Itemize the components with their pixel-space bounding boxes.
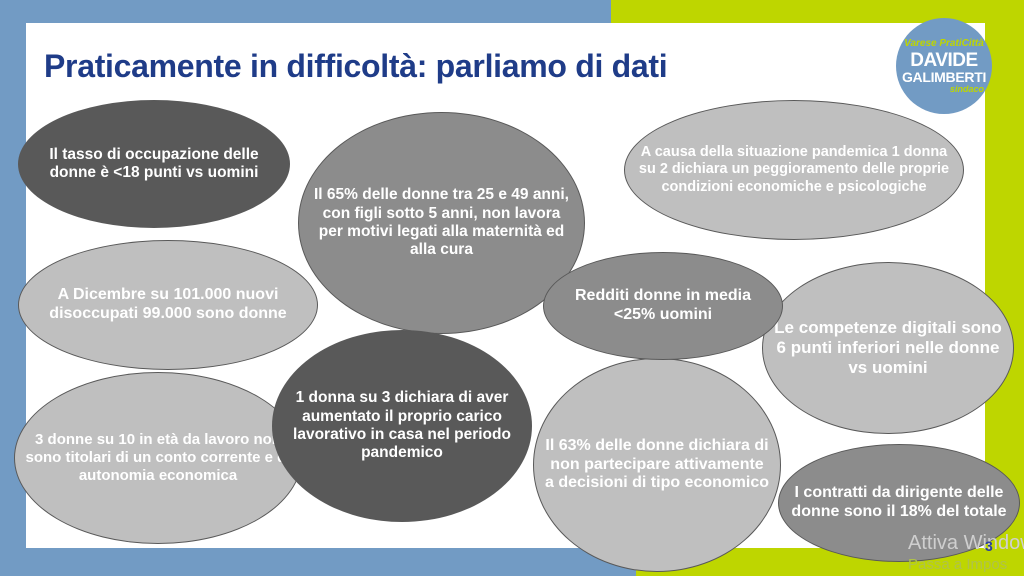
stat-bubble-text: Il 63% delle donne dichiara di non parte…: [544, 437, 770, 494]
stat-bubble: Redditi donne in media <25% uomini: [543, 252, 783, 360]
campaign-logo: Varese PratiCittà DAVIDE GALIMBERTI sind…: [896, 18, 992, 114]
stat-bubble-text: Il tasso di occupazione delle donne è <1…: [29, 146, 279, 183]
stat-bubble: I contratti da dirigente delle donne son…: [778, 444, 1020, 562]
presentation-slide: Praticamente in difficoltà: parliamo di …: [0, 0, 1024, 576]
stat-bubble: 3 donne su 10 in età da lavoro non sono …: [14, 372, 302, 544]
background-band-blue-top: [0, 0, 611, 23]
stat-bubble: Le competenze digitali sono 6 punti infe…: [762, 262, 1014, 434]
stat-bubble-text: I contratti da dirigente delle donne son…: [789, 484, 1009, 522]
background-band-blue-bottom: [0, 548, 636, 576]
logo-first-name: DAVIDE: [910, 51, 977, 70]
stat-bubble-text: Il 65% delle donne tra 25 e 49 anni, con…: [309, 186, 574, 259]
page-title: Praticamente in difficoltà: parliamo di …: [44, 48, 844, 85]
logo-role: sindaco: [950, 85, 984, 94]
stat-bubble: Il tasso di occupazione delle donne è <1…: [18, 100, 290, 228]
stat-bubble: Il 65% delle donne tra 25 e 49 anni, con…: [298, 112, 585, 334]
background-band-green-top: [611, 0, 1024, 23]
stat-bubble-text: Le competenze digitali sono 6 punti infe…: [773, 318, 1003, 378]
stat-bubble-text: 1 donna su 3 dichiara di aver aumentato …: [283, 389, 521, 462]
stat-bubble-text: A causa della situazione pandemica 1 don…: [635, 144, 953, 195]
stat-bubble: Il 63% delle donne dichiara di non parte…: [533, 358, 781, 572]
stat-bubble: 1 donna su 3 dichiara di aver aumentato …: [272, 330, 532, 522]
stat-bubble-text: Redditi donne in media <25% uomini: [554, 287, 772, 325]
slide-page-number: 3: [985, 538, 993, 554]
stat-bubble-text: A Dicembre su 101.000 nuovi disoccupati …: [29, 286, 307, 324]
logo-last-name: GALIMBERTI: [902, 70, 986, 84]
stat-bubble: A causa della situazione pandemica 1 don…: [624, 100, 964, 240]
logo-tagline: Varese PratiCittà: [904, 39, 984, 49]
stat-bubble-text: 3 donne su 10 in età da lavoro non sono …: [25, 431, 291, 484]
stat-bubble: A Dicembre su 101.000 nuovi disoccupati …: [18, 240, 318, 370]
